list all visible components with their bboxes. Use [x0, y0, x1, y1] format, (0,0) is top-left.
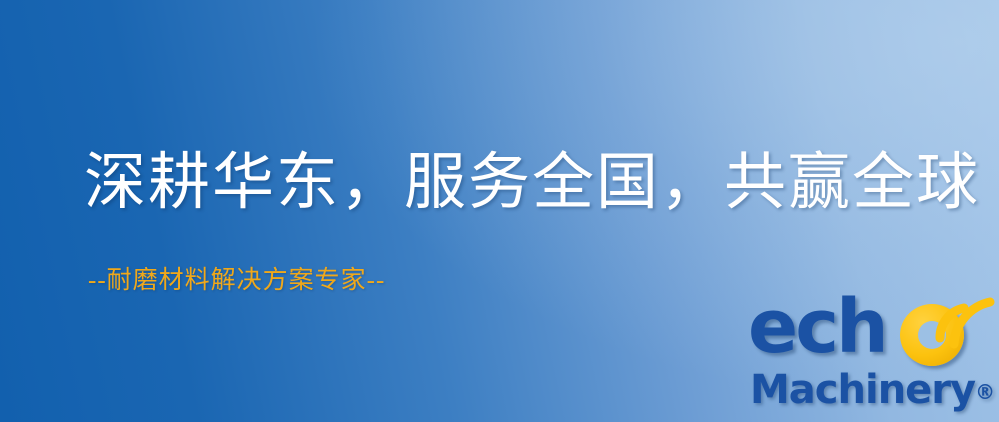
promotional-banner: 深耕华东，服务全国，共赢全球 --耐磨材料解决方案专家-- ech Machin… [0, 0, 999, 422]
banner-headline: 深耕华东，服务全国，共赢全球 [84, 152, 980, 214]
logo-tagline-text: Machinery [750, 367, 975, 413]
echo-machinery-logo: ech Machinery® [748, 296, 996, 420]
banner-subtitle: --耐磨材料解决方案专家-- [88, 268, 385, 293]
logo-tagline: Machinery® [750, 370, 995, 410]
signal-wave-icon [934, 292, 999, 354]
logo-wordmark: ech [748, 296, 996, 372]
logo-echo-letters: ech [748, 290, 886, 364]
registered-trademark-icon: ® [975, 380, 995, 404]
